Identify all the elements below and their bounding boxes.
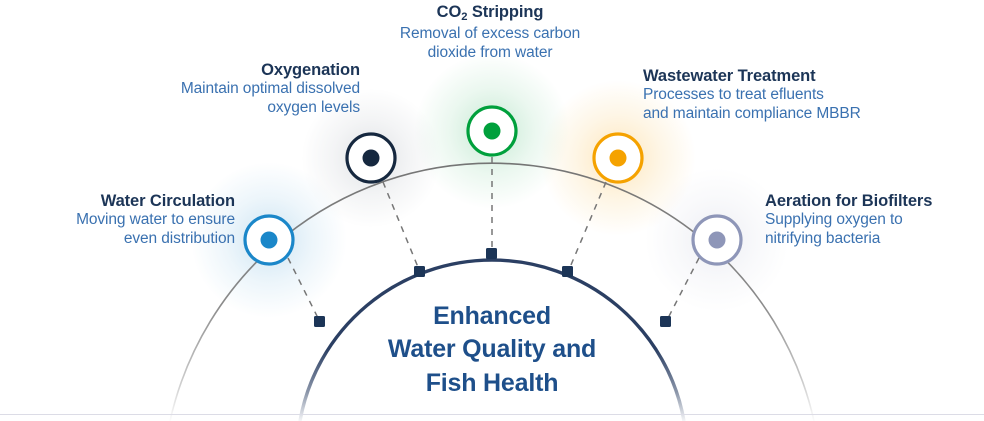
label-title-aeration-for-biofilters: Aeration for Biofilters	[765, 191, 984, 211]
node-aeration-for-biofilters[interactable]	[693, 216, 741, 264]
label-desc-wastewater-treatment-line1: Processes to treat efluents	[643, 86, 963, 105]
label-desc-co2-stripping-line2: dioxide from water	[355, 44, 625, 63]
label-desc-aeration-for-biofilters-line1: Supplying oxygen to	[765, 211, 984, 230]
label-title-oxygenation: Oxygenation	[100, 60, 360, 80]
label-title-water-circulation: Water Circulation	[0, 191, 235, 211]
center-outcome-text: Enhanced Water Quality and Fish Health	[352, 300, 632, 400]
label-desc-aeration-for-biofilters-line2: nitrifying bacteria	[765, 230, 984, 249]
label-title-wastewater-treatment: Wastewater Treatment	[643, 66, 963, 86]
label-desc-water-circulation-line2: even distribution	[0, 230, 235, 249]
node-wastewater-treatment[interactable]	[594, 134, 642, 182]
infographic-canvas: CO2 Stripping Removal of excess carbon d…	[0, 0, 984, 421]
label-co2-stripping: CO2 Stripping Removal of excess carbon d…	[355, 2, 625, 63]
node-oxygenation[interactable]	[347, 134, 395, 182]
label-desc-wastewater-treatment-line2: and maintain compliance MBBR	[643, 105, 963, 124]
label-desc-oxygenation-line2: oxygen levels	[100, 99, 360, 118]
center-text-line3: Fish Health	[352, 367, 632, 400]
label-aeration-for-biofilters: Aeration for Biofilters Supplying oxygen…	[765, 191, 984, 249]
node-co2-stripping[interactable]	[468, 107, 516, 155]
label-water-circulation: Water Circulation Moving water to ensure…	[0, 191, 235, 249]
label-oxygenation: Oxygenation Maintain optimal dissolved o…	[100, 60, 360, 118]
label-wastewater-treatment: Wastewater Treatment Processes to treat …	[643, 66, 963, 124]
node-water-circulation[interactable]	[245, 216, 293, 264]
center-text-line2: Water Quality and	[352, 333, 632, 366]
label-desc-water-circulation-line1: Moving water to ensure	[0, 211, 235, 230]
center-text-line1: Enhanced	[352, 300, 632, 333]
label-desc-co2-stripping-line1: Removal of excess carbon	[355, 25, 625, 44]
bottom-divider	[0, 414, 984, 415]
label-title-co2-stripping: CO2 Stripping	[355, 2, 625, 25]
label-desc-oxygenation-line1: Maintain optimal dissolved	[100, 80, 360, 99]
